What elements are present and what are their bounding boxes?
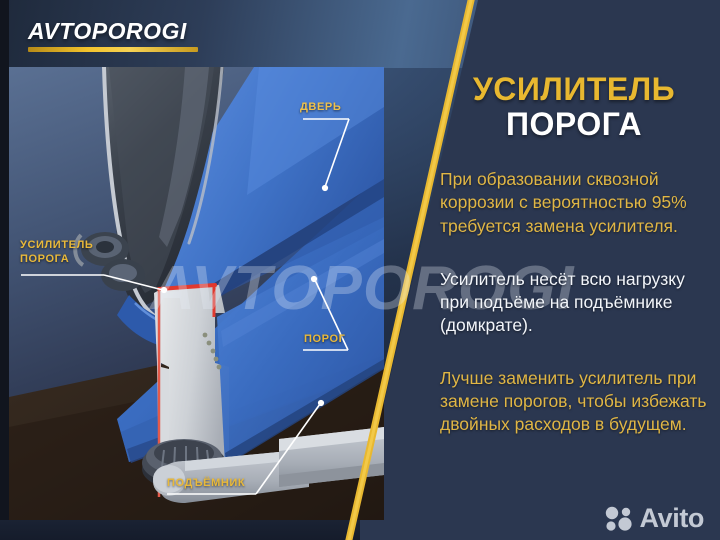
- avito-dots-icon: [604, 506, 635, 532]
- background-bottom-edge: [0, 520, 360, 540]
- avito-logo: Avito: [604, 505, 705, 532]
- page-title-line2: ПОРОГА: [440, 107, 708, 142]
- callout-label-lift: ПОДЪЁМНИК: [167, 477, 245, 491]
- brand-logo-underline: [28, 47, 198, 52]
- paragraph-corrosion: При образовании сквозной коррозии с веро…: [440, 168, 708, 237]
- ad-creative: AVTOPOROGI ДВЕРЬ УСИЛИТЕЛЬ ПОРОГА ПОРОГ …: [0, 0, 720, 540]
- paragraph-advice: Лучше заменить усилитель при замене поро…: [440, 367, 708, 436]
- paragraph-load: Усилитель несёт всю нагрузку при подъёме…: [440, 268, 708, 337]
- callout-label-reinforcement-line1: УСИЛИТЕЛЬ: [20, 239, 93, 251]
- page-title-line1: УСИЛИТЕЛЬ: [440, 72, 708, 107]
- copy-column: УСИЛИТЕЛЬ ПОРОГА При образовании сквозно…: [440, 72, 708, 466]
- callout-label-door: ДВЕРЬ: [300, 101, 341, 115]
- callout-label-reinforcement-line2: ПОРОГА: [20, 253, 69, 265]
- background-left-edge: [0, 0, 9, 540]
- callout-label-reinforcement: УСИЛИТЕЛЬ ПОРОГА: [20, 239, 93, 267]
- brand-logo: AVTOPOROGI: [28, 20, 198, 52]
- sill-reinforcement-illustration: [9, 67, 384, 520]
- callout-label-sill: ПОРОГ: [304, 333, 345, 347]
- page-title: УСИЛИТЕЛЬ ПОРОГА: [440, 72, 708, 142]
- avito-wordmark: Avito: [640, 505, 705, 532]
- car-cutaway-diagram: [9, 67, 384, 520]
- brand-logo-text: AVTOPOROGI: [28, 20, 198, 43]
